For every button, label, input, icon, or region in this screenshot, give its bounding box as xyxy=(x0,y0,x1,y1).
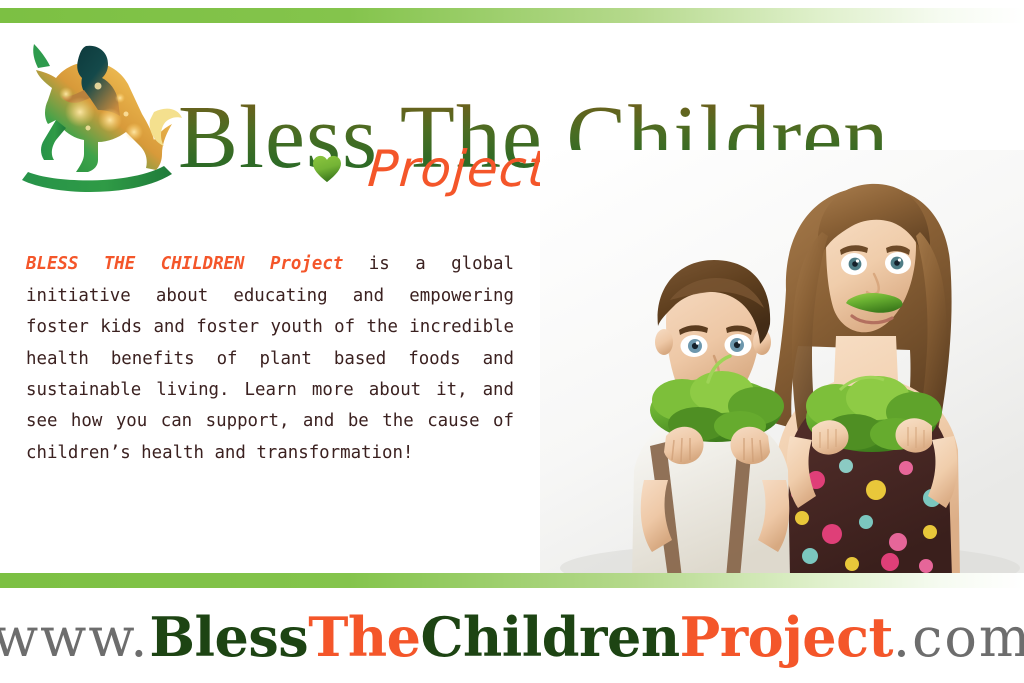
rocking-unicorn-with-child-icon xyxy=(14,28,186,200)
url-part-children: Children xyxy=(421,605,680,669)
url-part-bless: Bless xyxy=(149,605,308,669)
about-paragraph: BLESS THE CHILDREN Project is a global i… xyxy=(26,249,514,469)
heart-icon xyxy=(312,155,342,183)
footer-url-bar: www.BlessTheChildrenProject.com xyxy=(0,592,1024,683)
children-eating-greens-photo xyxy=(540,150,1024,578)
url-part-tld: .com xyxy=(893,606,1024,669)
url-part-project: Project xyxy=(680,605,893,669)
url-part-the: The xyxy=(308,605,420,669)
website-url[interactable]: www.BlessTheChildrenProject.com xyxy=(0,604,1024,671)
bottom-green-rule xyxy=(0,573,1024,588)
poster-canvas: Bless The Children Project xyxy=(0,0,1024,683)
subtitle-project: Project xyxy=(366,141,550,197)
top-green-rule xyxy=(0,8,1024,23)
url-part-www: www. xyxy=(0,606,149,669)
about-paragraph-lead: BLESS THE CHILDREN Project xyxy=(26,254,343,274)
about-paragraph-body: is a global initiative about educating a… xyxy=(26,254,514,462)
